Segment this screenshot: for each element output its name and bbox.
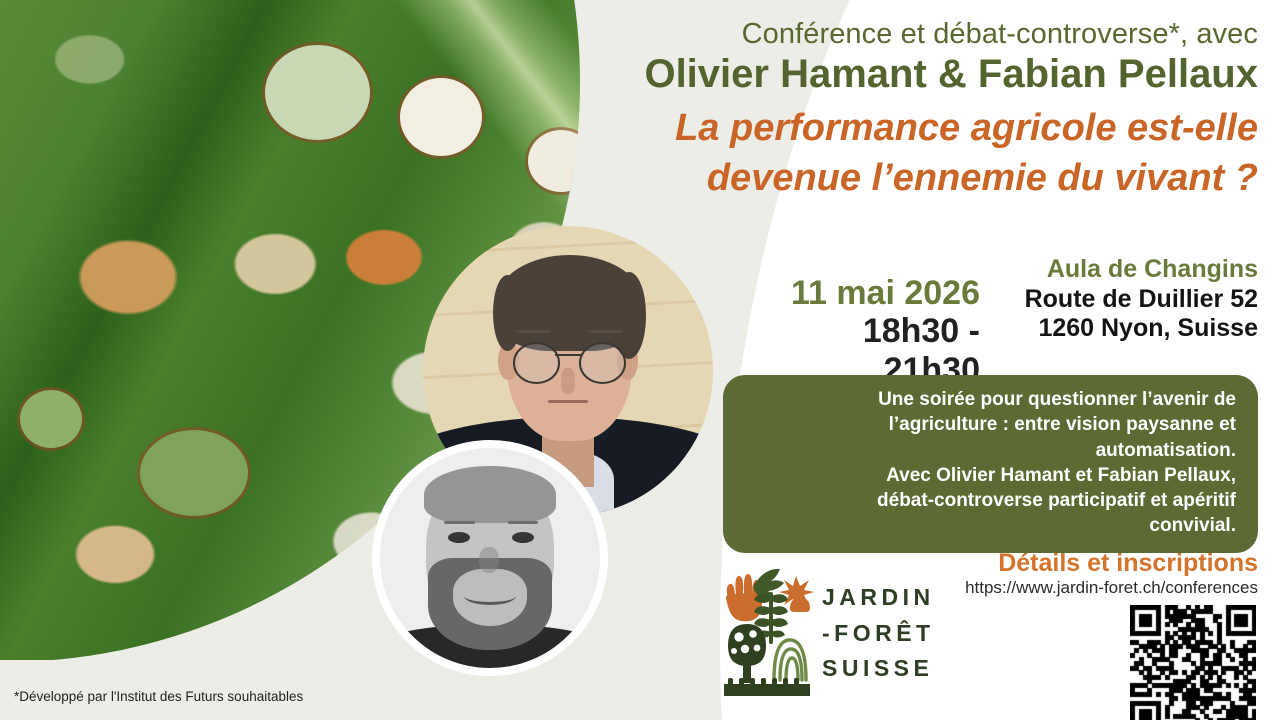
description-line-3: automatisation. xyxy=(745,438,1236,463)
details-heading: Détails et inscriptions xyxy=(998,549,1258,578)
portrait-nose xyxy=(561,368,576,394)
mushroom-icon xyxy=(790,598,810,612)
portrait-hair xyxy=(424,466,556,523)
logo-wordmark: JARDIN -FORÊT SUISSE xyxy=(822,580,972,687)
portrait-fabian-pellaux xyxy=(372,440,608,676)
jardin-foret-suisse-logo: JARDIN -FORÊT SUISSE xyxy=(718,566,968,706)
venue-block: Aula de Changins Route de Duillier 52 12… xyxy=(968,255,1258,344)
title-line-1: La performance agricole est-elle xyxy=(675,107,1258,150)
title-line-2: devenue l’ennemie du vivant ? xyxy=(707,157,1258,200)
description-line-2: l’agriculture : entre vision paysanne et xyxy=(745,412,1236,437)
portrait-eyeglass-bridge xyxy=(555,354,581,357)
portrait-eye-left xyxy=(448,532,470,543)
logo-line-1: JARDIN xyxy=(822,580,972,616)
description-line-4: Avec Olivier Hamant et Fabian Pellaux, xyxy=(745,463,1236,488)
portrait-eyeglass-left xyxy=(513,342,561,384)
portrait-nose xyxy=(479,547,499,573)
leaf-hole xyxy=(20,390,82,448)
ground-tufts-icon xyxy=(728,678,799,685)
portrait-eyebrow-right xyxy=(588,330,623,333)
date-block: 11 mai 2026 18h30 - 21h30 xyxy=(760,275,980,390)
venue-name: Aula de Changins xyxy=(968,255,1258,285)
speakers-names: Olivier Hamant & Fabian Pellaux xyxy=(644,52,1258,97)
ground-icon xyxy=(724,684,810,696)
logo-mark xyxy=(718,566,818,698)
description-line-1: Une soirée pour questionner l’avenir de xyxy=(745,387,1236,412)
venue-city: 1260 Nyon, Suisse xyxy=(968,314,1258,344)
portrait-mouth xyxy=(464,587,517,605)
kicker-text: Conférence et débat-controverse*, avec xyxy=(742,18,1258,51)
portrait-eye-right xyxy=(512,532,534,543)
logo-line-2: -FORÊT xyxy=(822,616,972,652)
description-box: Une soirée pour questionner l’avenir de … xyxy=(723,375,1258,553)
portrait-hair-side-left xyxy=(493,275,522,350)
portrait-eyebrow-left xyxy=(444,521,475,524)
portrait-eyebrow-right xyxy=(508,521,539,524)
description-line-6: convivial. xyxy=(745,513,1236,538)
leaf-hole xyxy=(265,45,370,140)
tree-icon xyxy=(728,624,766,683)
leaf-hole xyxy=(400,78,482,156)
venue-street: Route de Duillier 52 xyxy=(968,285,1258,315)
registration-url[interactable]: https://www.jardin-foret.ch/conferences xyxy=(965,578,1258,598)
description-line-5: débat-controverse participatif et apérit… xyxy=(745,488,1236,513)
logo-line-3: SUISSE xyxy=(822,651,972,687)
portrait-eyebrow-left xyxy=(516,330,551,333)
portrait-mouth xyxy=(548,400,589,403)
poster-canvas: Conférence et débat-controverse*, avec O… xyxy=(0,0,1280,720)
qr-code[interactable] xyxy=(1130,605,1256,720)
portrait-eyeglass-right xyxy=(579,342,627,384)
footnote-text: *Développé par l'Institut des Futurs sou… xyxy=(14,689,303,704)
logo-illustration-icon xyxy=(718,566,818,698)
qr-code-canvas[interactable] xyxy=(1130,605,1256,720)
portrait-inner xyxy=(380,448,600,668)
event-date: 11 mai 2026 xyxy=(760,275,980,312)
grass-arch-icon xyxy=(774,640,806,680)
leaf-hole xyxy=(140,430,248,516)
